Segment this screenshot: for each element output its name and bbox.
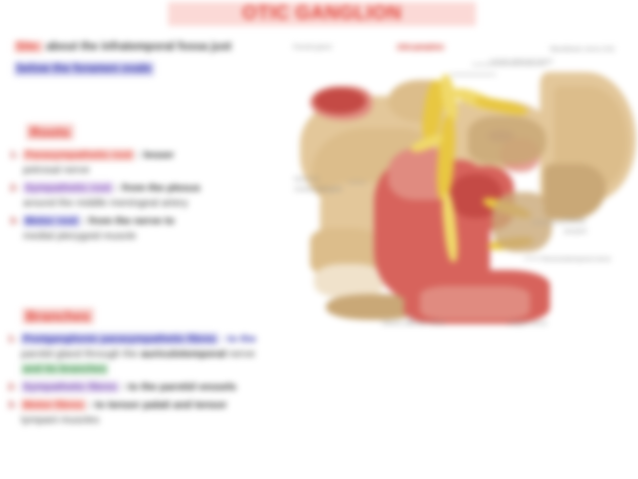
figure-label-medial-pterygoid: medial pterygoid bbox=[294, 186, 342, 194]
branches-item-line2-pre: parotid gland through the bbox=[21, 348, 141, 360]
slide-canvas: OTIC GANGLION Site: about the infratempo… bbox=[0, 0, 638, 479]
branches-item-line2-mid: auriculotemporal bbox=[141, 348, 226, 360]
roots-item-number: 1- bbox=[6, 148, 19, 177]
branches-item-number: 1- bbox=[4, 332, 17, 376]
site-intro-block: Site: about the infratemporal fossa just… bbox=[14, 40, 314, 77]
figure-label-tympani: tympani bbox=[564, 228, 587, 236]
roots-heading: Roots bbox=[26, 124, 74, 140]
site-label: Site: bbox=[14, 41, 43, 53]
roots-list: 1- Parasympathetic root : lesser petrosa… bbox=[6, 148, 306, 247]
roots-item: 1- Parasympathetic root : lesser petrosa… bbox=[6, 148, 306, 177]
anatomy-figure: Otic ganglion Mandibular nerve (V3) Less… bbox=[292, 42, 638, 354]
roots-item-number: 2- bbox=[6, 181, 19, 210]
roots-item: 3- Motor root : from the nerve to medial… bbox=[6, 214, 306, 243]
roots-item-body: Parasympathetic root : lesser petrosal n… bbox=[23, 148, 306, 177]
branches-item: 2- Sympathetic fibres : to the parotid v… bbox=[4, 380, 349, 394]
branches-item-body: Motor fibres : to tensor palati and tens… bbox=[21, 398, 349, 427]
roots-item-line2: medial pterygoid muscle bbox=[23, 229, 306, 243]
roots-item-text: : from the nerve to bbox=[80, 215, 175, 227]
branches-item-number: 3- bbox=[4, 398, 17, 427]
branches-item-body: Sympathetic fibres : to the parotid vess… bbox=[21, 380, 349, 394]
roots-item-number: 3- bbox=[6, 214, 19, 243]
roots-item-text: : from the plexus bbox=[113, 182, 201, 194]
figure-label-parotid-gland: Parotid gland bbox=[293, 44, 331, 52]
branches-item-highlight: Sympathetic fibres bbox=[21, 381, 119, 393]
site-line-1-text: about the infratemporal fossa just bbox=[46, 41, 231, 53]
branches-item-line3: and its branches bbox=[21, 363, 108, 375]
branches-heading: Branches bbox=[22, 308, 94, 324]
figure-label-nerve-to: Nerve to bbox=[294, 176, 319, 184]
figure-label-auriculotemporal: Auriculotemporal nerve bbox=[544, 256, 611, 264]
roots-item-highlight: Motor root bbox=[23, 215, 80, 227]
roots-item: 2- Sympathetic root : from the plexus ar… bbox=[6, 181, 306, 210]
roots-item-highlight: Parasympathetic root bbox=[23, 149, 134, 161]
figure-label-chorda: Chorda bbox=[564, 218, 585, 226]
figure-otic-ganglion-label: Otic ganglion bbox=[396, 44, 445, 51]
roots-item-text: : lesser bbox=[134, 149, 174, 161]
figure-label-mandibular-nerve: Mandibular nerve (V3) bbox=[550, 46, 614, 54]
branches-item-text: : to the bbox=[218, 333, 256, 345]
branches-item-highlight: Postganglionic parasympathetic fibres bbox=[21, 333, 218, 345]
roots-item-body: Motor root : from the nerve to medial pt… bbox=[23, 214, 306, 243]
branches-item-highlight: Motor fibres bbox=[21, 399, 86, 411]
branches-item-text: : to tensor palati and tensor bbox=[86, 399, 227, 411]
roots-item-highlight: Sympathetic root bbox=[23, 182, 113, 194]
figure-label-lesser-petrosal: Lesser petrosal nerve bbox=[490, 58, 553, 66]
roots-item-line2: around the middle meningeal artery bbox=[23, 196, 306, 210]
branches-item: 3- Motor fibres : to tensor palati and t… bbox=[4, 398, 349, 427]
roots-item-line2: petrosal nerve bbox=[23, 163, 306, 177]
slide-title: OTIC GANGLION bbox=[168, 2, 476, 26]
branches-item-line3-wrap: and its branches bbox=[21, 362, 349, 376]
figure-label-inferior-alveolar: Inferior alveolar nerve bbox=[382, 320, 445, 328]
site-line-2: below the foramen ovale bbox=[14, 59, 154, 77]
branches-item-number: 2- bbox=[4, 380, 17, 394]
branches-item-text: : to the parotid vessels bbox=[119, 381, 236, 393]
branches-item-line2-post: nerve bbox=[226, 348, 255, 360]
figure-label-lingual-nerve: Lingual nerve bbox=[508, 320, 547, 328]
roots-item-body: Sympathetic root : from the plexus aroun… bbox=[23, 181, 306, 210]
site-line-1: Site: about the infratemporal fossa just bbox=[14, 40, 314, 55]
branches-item-line2: tympani muscles bbox=[21, 413, 349, 427]
site-line-2-text: below the foramen ovale bbox=[14, 62, 154, 76]
